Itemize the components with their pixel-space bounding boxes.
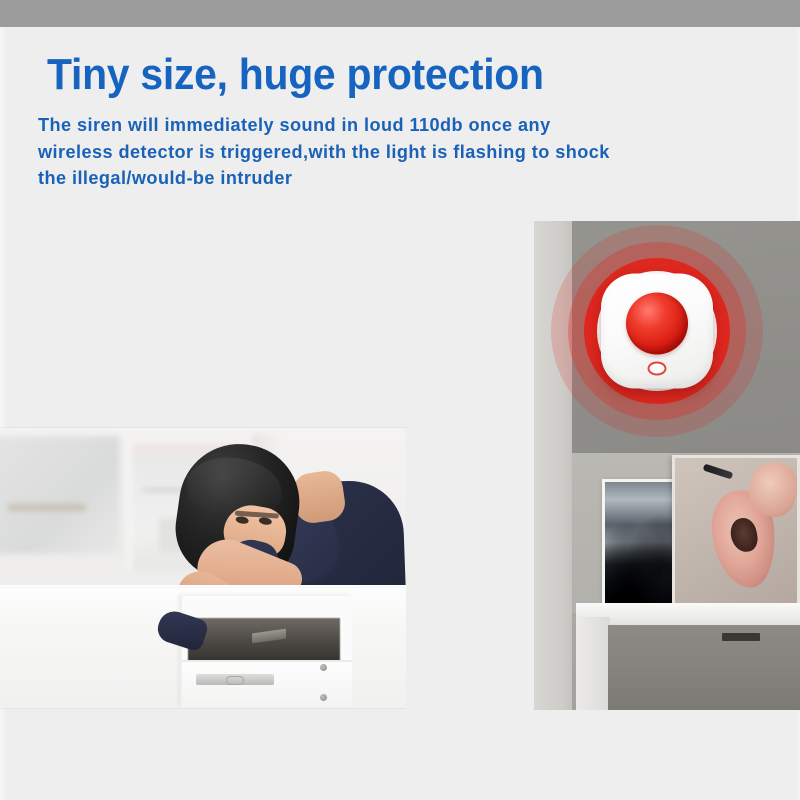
wall-mounted-siren-photo [534,221,800,710]
top-frame-band [0,0,800,27]
sideboard-side-panel [576,617,610,710]
white-sideboard [576,603,800,710]
burglar-searching-drawer-photo [0,428,406,708]
body-copy-line-2: wireless detector is triggered,with the … [38,139,771,166]
background-cabinet [0,436,120,554]
intruder-eye-left [235,516,249,525]
drawer-screw-top [320,664,327,671]
audio-waveform [0,233,545,381]
lower-room-scene [572,453,800,710]
body-copy-line-3: the illegal/would-be intruder [38,165,771,192]
photo-gutter [406,428,534,718]
drawer-handle [196,674,274,685]
wall-light-strip [534,221,572,710]
audio-waveform-svg [0,233,545,381]
product-feature-banner: Tiny size, huge protection The siren wil… [0,0,800,800]
drawer-screw-bottom [320,694,327,701]
body-copy-line-1: The siren will immediately sound in loud… [38,112,771,139]
body-copy: The siren will immediately sound in loud… [38,112,771,192]
ear-artwork-image [675,458,797,610]
sideboard-drawer-front [608,625,800,710]
framed-ear-artwork [672,455,800,613]
page-title: Tiny size, huge protection [47,50,544,100]
cotton-swab-icon [703,464,734,480]
sideboard-handle [722,633,760,641]
waveform-bars [1,233,545,381]
